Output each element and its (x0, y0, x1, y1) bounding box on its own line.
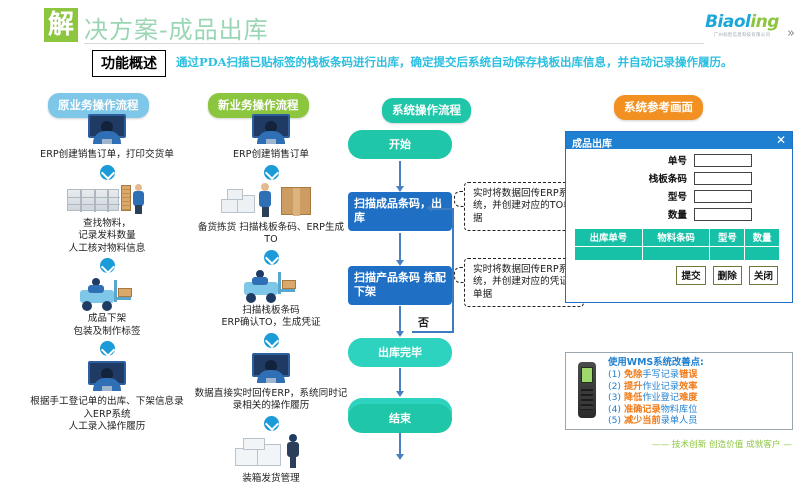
pda-scanner-icon (572, 362, 602, 420)
wms-benefit-item: (3) 降低作业登记难度 (608, 392, 790, 404)
new-step-4-caption: 数据直接实时回传ERP，系统同时记录相关的操作履历 (190, 387, 352, 413)
reference-dialog: 成品出库 ✕ 单号 栈板条码 型号 数量 出库单号 物料条码 型号 数量 提交 … (565, 131, 793, 303)
item-highlight: 提升 (624, 381, 642, 392)
chevron-right-icon: » (787, 26, 795, 41)
arrow-down-icon (100, 341, 115, 356)
old-step-3-caption: 成品下架 包装及制作标签 (26, 312, 188, 338)
wms-benefit-item: (1) 免除手写记录错误 (608, 369, 790, 381)
new-step-1: ERP创建销售订单 (190, 112, 352, 162)
new-step-2-caption: 备货拣货 扫描栈板条码、ERP生成TO (190, 221, 352, 247)
cell-material-barcode (642, 247, 710, 261)
function-overview-text: 通过PDA扫描已贴标签的栈板条码进行出库，确定提交后系统自动保存栈板出库信息，并… (176, 54, 733, 70)
logo-word-part2: ing (750, 12, 779, 32)
flow-connector (399, 429, 401, 457)
dialog-titlebar: 成品出库 ✕ (566, 132, 792, 149)
flow-connector (399, 233, 401, 263)
field-label-model: 型号 (668, 189, 687, 203)
field-label-order-no: 单号 (668, 153, 687, 167)
title-badge-char: 解 (44, 8, 78, 42)
new-process-column: ERP创建销售订单 备货拣货 扫描栈板条码、ERP生成TO 扫描栈板条码 ERP… (190, 112, 352, 486)
cell-outbound-no (575, 247, 643, 261)
wms-benefit-item: (4) 准确记录物料库位 (608, 404, 790, 416)
table-row[interactable] (575, 247, 780, 261)
boxes-person-carton-icon (219, 183, 323, 219)
branch-label-no: 否 (418, 314, 429, 330)
old-step-4: 根据手工登记单的出库、下架信息录入ERP系统 人工录入操作履历 (26, 359, 188, 434)
model-input[interactable] (694, 190, 752, 203)
quantity-input[interactable] (694, 208, 752, 221)
dialog-title-text: 成品出库 (572, 139, 612, 150)
item-number: (5) (608, 415, 621, 426)
wms-benefits-text: 使用WMS系统改善点: (1) 免除手写记录错误 (2) 提升作业记录效率 (3… (602, 357, 790, 427)
wms-benefits-note: 使用WMS系统改善点: (1) 免除手写记录错误 (2) 提升作业记录效率 (3… (565, 352, 793, 430)
company-logo: Biaoling 广州标智信息科技有限公司 (700, 14, 784, 38)
cell-quantity (745, 247, 780, 261)
old-step-1: ERP创建销售订单，打印交货单 (26, 112, 188, 162)
item-highlight: 准确记录 (624, 404, 661, 415)
dialog-field-row: 型号 (566, 189, 752, 203)
shelf-rack-icon (67, 183, 147, 215)
field-label-quantity: 数量 (668, 207, 687, 221)
new-step-2: 备货拣货 扫描栈板条码、ERP生成TO (190, 183, 352, 247)
delete-button[interactable]: 删除 (713, 266, 742, 285)
item-rest: 物料库位 (661, 404, 698, 415)
flow-connector (399, 306, 401, 334)
item-rest: 手写记录 (642, 369, 679, 380)
arrow-down-icon (264, 333, 279, 348)
new-step-5-caption: 装箱发货管理 (190, 472, 352, 486)
old-step-1-caption: ERP创建销售订单，打印交货单 (26, 148, 188, 162)
item-highlight: 减少当前 (624, 415, 661, 426)
title-divider (84, 43, 704, 44)
branch-line-return (432, 208, 454, 210)
function-overview-label: 功能概述 (92, 50, 166, 77)
item-number: (3) (608, 392, 621, 403)
arrow-down-icon (264, 250, 279, 265)
flow-connector (399, 161, 401, 189)
submit-button[interactable]: 提交 (676, 266, 705, 285)
new-step-4: 数据直接实时回传ERP，系统同时记录相关的操作履历 (190, 351, 352, 413)
item-highlight-2: 效率 (679, 381, 697, 392)
old-process-column: ERP创建销售订单，打印交货单 查找物料， 记录发料数量 人工核对物料信息 成品… (26, 112, 188, 435)
dialog-field-row: 栈板条码 (566, 171, 752, 185)
old-step-4-caption: 根据手工登记单的出库、下架信息录入ERP系统 人工录入操作履历 (26, 395, 188, 434)
table-header-row: 出库单号 物料条码 型号 数量 (575, 229, 780, 247)
logo-subtitle: 广州标智信息科技有限公司 (700, 32, 784, 38)
arrow-down-icon (100, 258, 115, 273)
dialog-field-row: 数量 (566, 207, 752, 221)
monitor-person-icon (85, 359, 129, 393)
flow-node-end[interactable]: 结束 (348, 404, 452, 433)
callout-tail-shape (454, 191, 464, 207)
item-number: (1) (608, 369, 621, 380)
item-highlight: 免除 (624, 369, 642, 380)
item-highlight: 降低 (624, 392, 642, 403)
new-step-5: 装箱发货管理 (190, 434, 352, 486)
old-step-2-caption: 查找物料， 记录发料数量 人工核对物料信息 (26, 217, 188, 256)
old-step-3: 成品下架 包装及制作标签 (26, 276, 188, 338)
dialog-field-row: 单号 (566, 153, 752, 167)
col-header-model: 型号 (710, 229, 745, 247)
flow-node-scan-outbound[interactable]: 扫描成品条码，出库 (348, 192, 452, 231)
arrow-down-icon (100, 165, 115, 180)
wms-benefit-item: (2) 提升作业记录效率 (608, 381, 790, 393)
forklift-icon (76, 276, 138, 310)
callout-tail-shape (454, 267, 464, 283)
arrow-down-icon (264, 165, 279, 180)
footer-tagline: —— 技术创新 创造价值 成就客户 — (652, 438, 792, 450)
col-header-quantity: 数量 (745, 229, 780, 247)
outbound-table: 出库单号 物料条码 型号 数量 (574, 228, 780, 261)
item-rest: 作业记录 (642, 381, 679, 392)
arrow-head-left-icon (426, 204, 432, 212)
wms-benefit-item: (5) 减少当前录单人员 (608, 415, 790, 427)
logo-wordmark: Biaoling (700, 14, 784, 31)
flow-node-start[interactable]: 开始 (348, 130, 452, 159)
page-title: 决方案-成品出库 (84, 10, 269, 45)
item-highlight-2: 错误 (679, 369, 697, 380)
col-header-material-barcode: 物料条码 (642, 229, 710, 247)
dialog-button-bar: 提交 删除 关闭 (566, 266, 778, 285)
arrow-head-icon (396, 331, 404, 337)
pallet-barcode-input[interactable] (694, 172, 752, 185)
close-button[interactable]: 关闭 (749, 266, 778, 285)
callout-1-text: 实时将数据回传ERP系统，并创建对应的TO单据 (473, 188, 573, 224)
arrow-head-icon (396, 454, 404, 460)
field-label-pallet-barcode: 栈板条码 (649, 171, 687, 185)
branch-line-vertical (452, 208, 454, 332)
flow-node-outbound-complete[interactable]: 出库完毕 (348, 338, 452, 367)
arrow-head-icon (396, 391, 404, 397)
monitor-person-icon (85, 112, 129, 146)
col-header-outbound-no: 出库单号 (575, 229, 643, 247)
close-icon[interactable]: ✕ (776, 133, 786, 148)
page-header: 解 决方案-成品出库 Biaoling 广州标智信息科技有限公司 » 功能概述 … (0, 0, 802, 86)
old-step-2: 查找物料， 记录发料数量 人工核对物料信息 (26, 183, 188, 256)
order-no-input[interactable] (694, 154, 752, 167)
item-number: (4) (608, 404, 621, 415)
logo-word-part1: Biaol (705, 12, 750, 32)
arrow-down-icon (264, 416, 279, 431)
item-highlight-2: 难度 (679, 392, 697, 403)
column-header-reference-screen: 系统参考画面 (614, 95, 703, 120)
item-number: (2) (608, 381, 621, 392)
wms-benefits-heading: 使用WMS系统改善点: (608, 357, 790, 369)
item-rest: 作业登记 (642, 392, 679, 403)
cell-model (710, 247, 745, 261)
packing-person-icon (229, 434, 313, 470)
branch-line-horizontal (412, 331, 454, 333)
new-step-1-caption: ERP创建销售订单 (190, 148, 352, 162)
monitor-person-icon (249, 351, 293, 385)
flow-node-scan-pick[interactable]: 扫描产品条码 拣配下架 (348, 266, 452, 305)
item-rest: 录单人员 (661, 415, 698, 426)
monitor-person-icon (249, 112, 293, 146)
callout-2-text: 实时将数据回传ERP系统，并创建对应的凭证单据 (473, 264, 569, 300)
new-step-3-caption: 扫描栈板条码 ERP确认TO，生成凭证 (190, 304, 352, 330)
new-step-3: 扫描栈板条码 ERP确认TO，生成凭证 (190, 268, 352, 330)
forklift-icon (240, 268, 302, 302)
